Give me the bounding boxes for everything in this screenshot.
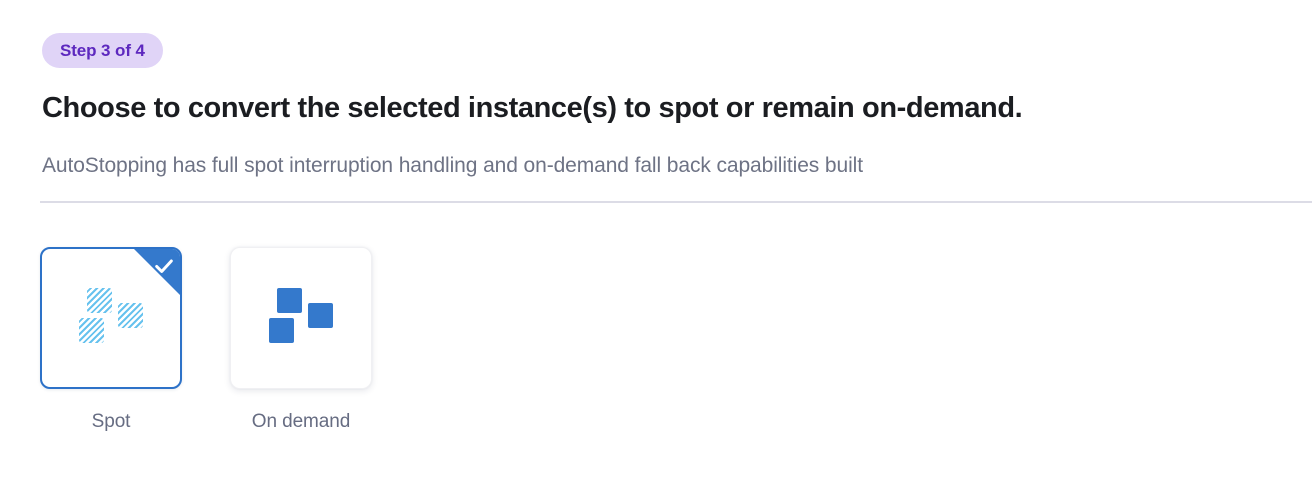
option-spot[interactable]: Spot	[40, 247, 182, 437]
instance-type-options: Spot On demand	[40, 247, 372, 437]
section-divider	[40, 201, 1312, 203]
striped-square-c	[79, 318, 104, 343]
option-card-on-demand[interactable]	[230, 247, 372, 389]
spot-selection-step: Step 3 of 4 Choose to convert the select…	[0, 0, 1312, 484]
step-badge: Step 3 of 4	[42, 33, 163, 68]
option-label-on-demand: On demand	[246, 407, 356, 437]
striped-square-b	[118, 303, 143, 328]
page-subtitle: AutoStopping has full spot interruption …	[42, 151, 863, 181]
solid-square-a	[277, 288, 302, 313]
solid-square-b	[308, 303, 333, 328]
check-icon	[153, 255, 175, 277]
striped-squares-icon	[79, 288, 143, 348]
striped-square-a	[87, 288, 112, 313]
option-label-spot: Spot	[56, 407, 166, 437]
option-on-demand[interactable]: On demand	[230, 247, 372, 437]
solid-squares-icon	[269, 288, 333, 348]
solid-square-c	[269, 318, 294, 343]
page-title: Choose to convert the selected instance(…	[42, 88, 1022, 128]
option-card-spot[interactable]	[40, 247, 182, 389]
